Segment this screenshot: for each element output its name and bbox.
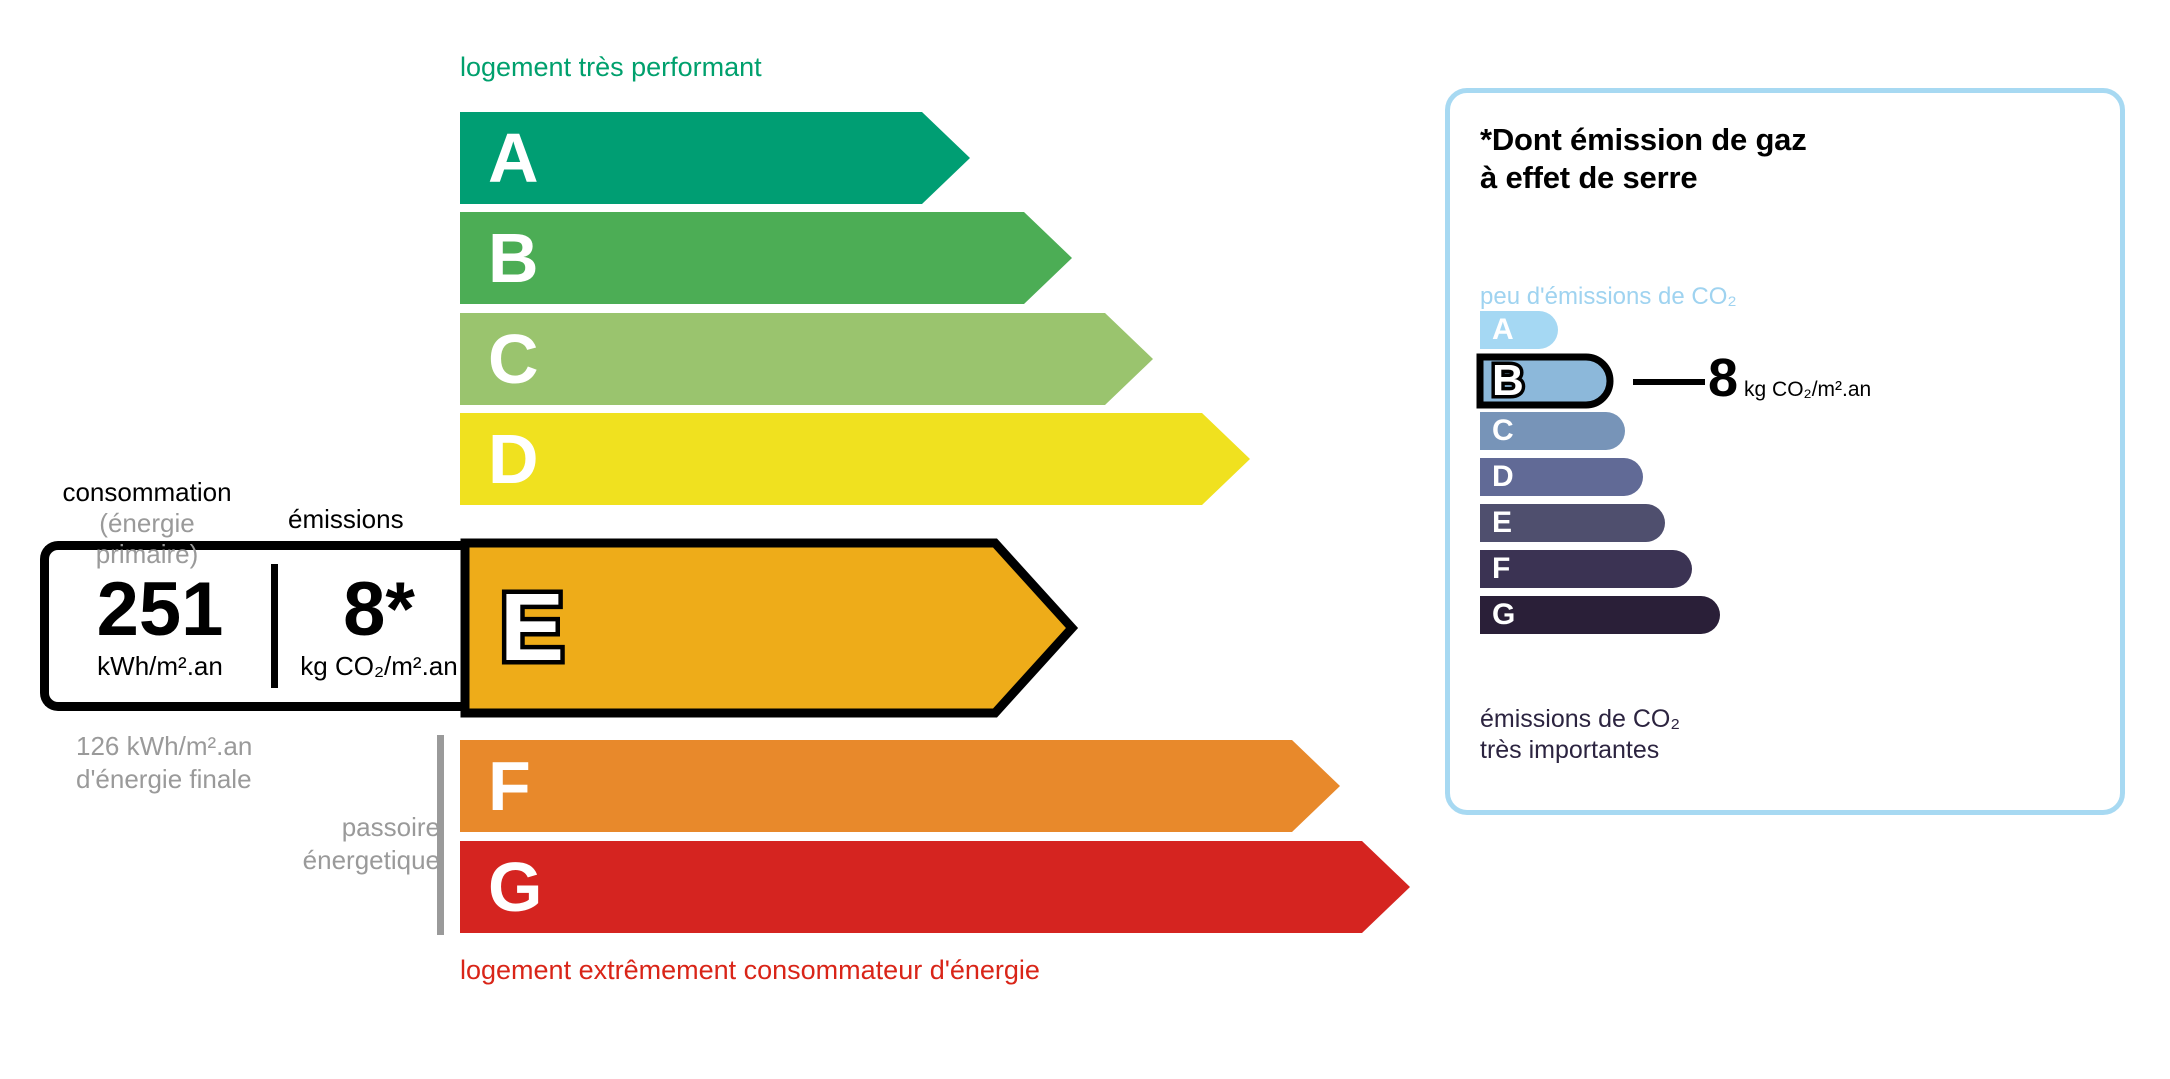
dpe-diagram: logement très performant A B C bbox=[0, 0, 2170, 1079]
co2-bar-e: E bbox=[1480, 504, 1665, 542]
co2-bar-c: C bbox=[1480, 412, 1625, 450]
energy-performance-panel: logement très performant A B C bbox=[0, 0, 1400, 1079]
consumption-unit: kWh/m².an bbox=[53, 652, 267, 681]
co2-value-number: 8 bbox=[1708, 348, 1738, 408]
final-energy-line2: d'énergie finale bbox=[76, 764, 252, 794]
co2-value-callout: 8kg CO₂/m².an bbox=[1708, 351, 1871, 405]
passoire-line2: énergetique bbox=[303, 845, 440, 875]
co2-bar-e-letter: E bbox=[1492, 508, 1512, 538]
energy-bar-g-letter: G bbox=[488, 852, 542, 922]
co2-bar-g-letter: G bbox=[1492, 600, 1515, 630]
energy-bar-b-letter: B bbox=[488, 223, 539, 293]
co2-emissions-panel: *Dont émission de gaz à effet de serre p… bbox=[1445, 88, 2125, 815]
co2-bottom-caption: émissions de CO₂ très importantes bbox=[1480, 704, 1680, 765]
co2-bar-d: D bbox=[1480, 458, 1643, 496]
energy-bar-f-letter: F bbox=[488, 751, 531, 821]
co2-bottom-line1: émissions de CO₂ bbox=[1480, 705, 1680, 733]
energy-bar-e bbox=[460, 538, 1080, 718]
infobox-divider bbox=[271, 564, 278, 688]
co2-title-line1: *Dont émission de gaz bbox=[1480, 122, 1807, 157]
emissions-unit: kg CO₂/m².an bbox=[281, 652, 477, 681]
energy-bar-d-letter: D bbox=[488, 424, 539, 494]
co2-value-unit: kg CO₂/m².an bbox=[1744, 378, 1871, 401]
co2-panel-title: *Dont émission de gaz à effet de serre bbox=[1480, 121, 1807, 197]
energy-bar-f: F bbox=[460, 740, 1340, 832]
co2-bar-b: B bbox=[1476, 353, 1616, 409]
co2-bar-f-letter: F bbox=[1492, 554, 1510, 584]
emissions-value: 8* bbox=[281, 572, 477, 648]
co2-bar-c-letter: C bbox=[1492, 416, 1514, 446]
passoire-line1: passoire bbox=[342, 812, 440, 842]
co2-bar-f: F bbox=[1480, 550, 1692, 588]
consumption-label: consommation (énergie primaire) bbox=[47, 477, 247, 571]
energy-bottom-caption: logement extrêmement consommateur d'éner… bbox=[460, 955, 1040, 986]
passoire-note: passoire énergetique bbox=[180, 811, 440, 877]
consumption-value: 251 bbox=[53, 572, 267, 648]
consumption-label-main: consommation bbox=[62, 477, 231, 507]
co2-bar-a: A bbox=[1480, 311, 1558, 349]
energy-bar-c: C bbox=[460, 313, 1153, 405]
energy-bar-b: B bbox=[460, 212, 1072, 304]
co2-bar-b-letter: B bbox=[1492, 359, 1524, 403]
co2-bar-a-letter: A bbox=[1492, 315, 1514, 345]
energy-bar-d: D bbox=[460, 413, 1250, 505]
emissions-label: émissions bbox=[288, 504, 404, 535]
co2-bar-d-letter: D bbox=[1492, 462, 1514, 492]
co2-bar-g: G bbox=[1480, 596, 1720, 634]
co2-title-line2: à effet de serre bbox=[1480, 160, 1697, 195]
co2-bottom-line2: très importantes bbox=[1480, 736, 1659, 764]
co2-leader-line bbox=[1633, 379, 1705, 385]
final-energy-line1: 126 kWh/m².an bbox=[76, 731, 252, 761]
energy-bar-a: A bbox=[460, 112, 970, 204]
consumption-label-sub: (énergie primaire) bbox=[96, 508, 199, 569]
consumption-value-cell: 251 kWh/m².an bbox=[53, 572, 267, 681]
energy-bar-g: G bbox=[460, 841, 1410, 933]
passoire-rule bbox=[437, 735, 444, 935]
final-energy-note: 126 kWh/m².an d'énergie finale bbox=[76, 730, 252, 796]
energy-bar-a-letter: A bbox=[488, 123, 539, 193]
co2-top-caption: peu d'émissions de CO₂ bbox=[1480, 283, 1737, 311]
emissions-value-cell: 8* kg CO₂/m².an bbox=[281, 572, 477, 681]
energy-bar-c-letter: C bbox=[488, 324, 539, 394]
energy-top-caption: logement très performant bbox=[460, 52, 762, 83]
